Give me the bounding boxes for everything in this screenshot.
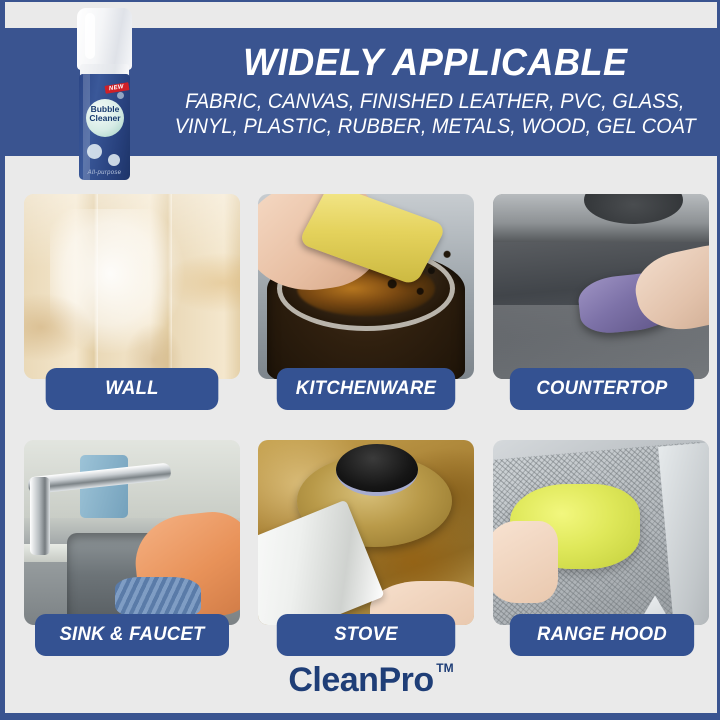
range-hood-photo — [493, 440, 709, 625]
use-case-card-range-hood[interactable]: RANGE HOOD — [493, 440, 709, 648]
header-text-block: WIDELY APPLICABLE FABRIC, CANVAS, FINISH… — [155, 28, 715, 156]
use-case-label-countertop[interactable]: COUNTERTOP — [510, 368, 694, 410]
use-case-grid: WALL KITCHENWARE — [5, 162, 717, 654]
sink-faucet-photo — [24, 440, 240, 625]
applicable-materials-line-1: FABRIC, CANVAS, FINISHED LEATHER, PVC, G… — [185, 89, 684, 115]
use-case-card-countertop[interactable]: COUNTERTOP — [493, 194, 709, 402]
infographic-page: WIDELY APPLICABLE FABRIC, CANVAS, FINISH… — [0, 0, 720, 720]
product-name: Bubble Cleaner — [85, 105, 125, 123]
brand-logo: CleanProTM — [288, 661, 433, 700]
footer: CleanProTM — [5, 651, 717, 709]
use-case-card-wall[interactable]: WALL — [24, 194, 240, 402]
product-tagline: All-purpose — [79, 170, 130, 176]
trademark-symbol: TM — [436, 661, 453, 675]
bubble-decor-small — [117, 92, 124, 99]
use-case-label-wall[interactable]: WALL — [46, 368, 219, 410]
use-case-label-sink-faucet[interactable]: SINK & FAUCET — [35, 614, 229, 656]
use-case-card-kitchenware[interactable]: KITCHENWARE — [258, 194, 474, 402]
bottle-pump-cap — [77, 8, 132, 70]
applicable-materials-line-2: VINYL, PLASTIC, RUBBER, METALS, WOOD, GE… — [174, 114, 695, 140]
use-case-label-range-hood[interactable]: RANGE HOOD — [510, 614, 694, 656]
countertop-photo — [493, 194, 709, 379]
product-bottle-image: NEW Bubble Cleaner All-purpose — [73, 6, 137, 182]
use-case-card-stove[interactable]: STOVE — [258, 440, 474, 648]
use-case-label-kitchenware[interactable]: KITCHENWARE — [277, 368, 455, 410]
brand-name: CleanPro — [288, 661, 433, 699]
stove-photo — [258, 440, 474, 625]
bubble-decor-large — [87, 144, 102, 159]
wall-photo — [24, 194, 240, 379]
use-case-card-sink-faucet[interactable]: SINK & FAUCET — [24, 440, 240, 648]
kitchenware-photo — [258, 194, 474, 379]
bubble-decor-medium — [108, 154, 120, 166]
page-title: WIDELY APPLICABLE — [243, 44, 627, 84]
bottle-body: NEW Bubble Cleaner All-purpose — [79, 74, 130, 180]
product-name-line-2: Cleaner — [89, 113, 120, 123]
use-case-label-stove[interactable]: STOVE — [277, 614, 455, 656]
